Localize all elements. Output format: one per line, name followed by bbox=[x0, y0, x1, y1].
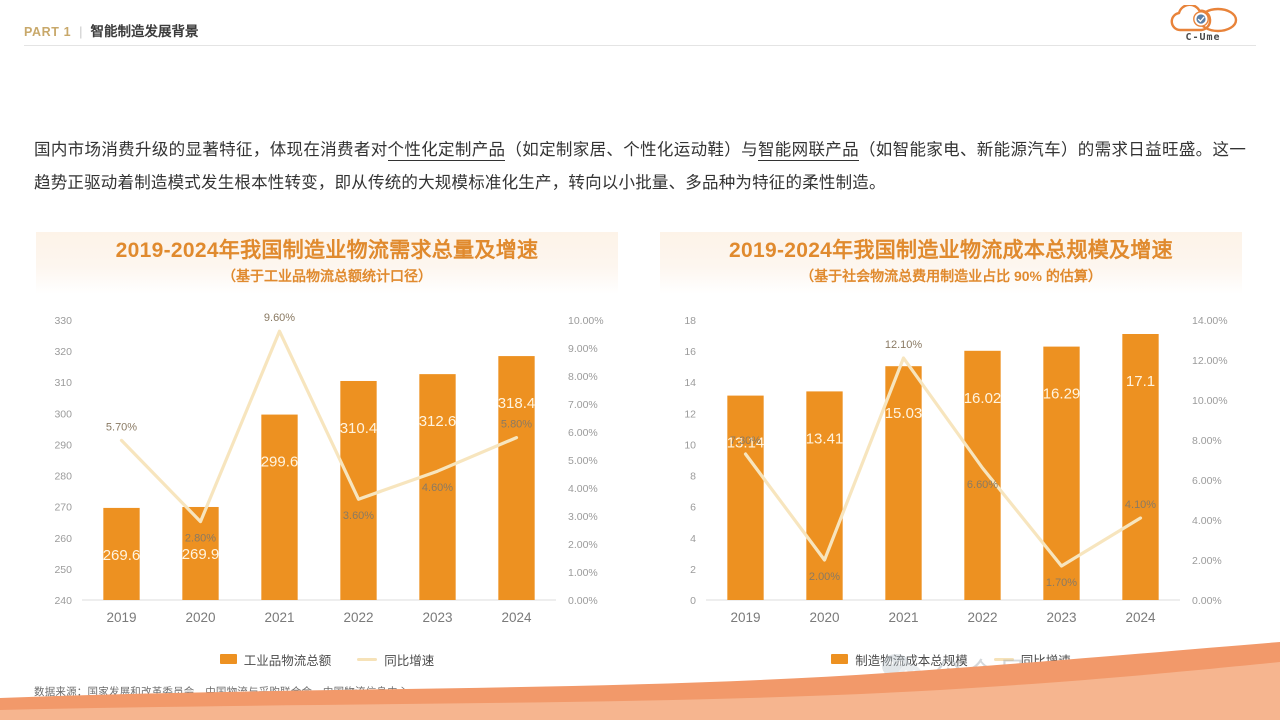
svg-text:2023: 2023 bbox=[1046, 610, 1076, 625]
svg-text:2.00%: 2.00% bbox=[568, 539, 598, 551]
source-note: 数据来源：国家发展和改革委员会、中国物流与采购联合会、中国物流信息中心 bbox=[34, 684, 409, 699]
header-divider bbox=[24, 45, 1256, 46]
svg-text:17.1: 17.1 bbox=[1126, 373, 1155, 390]
svg-text:5.80%: 5.80% bbox=[501, 419, 532, 431]
svg-text:14.00%: 14.00% bbox=[1192, 315, 1228, 327]
paragraph-segment-1: 国内市场消费升级的显著特征，体现在消费者对 bbox=[34, 141, 388, 159]
svg-text:4.00%: 4.00% bbox=[1192, 515, 1222, 527]
svg-text:240: 240 bbox=[54, 595, 72, 607]
svg-text:15.03: 15.03 bbox=[885, 405, 923, 422]
svg-text:2022: 2022 bbox=[343, 610, 373, 625]
legend-swatch-icon bbox=[831, 654, 848, 664]
chart-panel-demand: 2019-2024年我国制造业物流需求总量及增速 （基于工业品物流总额统计口径）… bbox=[36, 232, 618, 672]
svg-text:12: 12 bbox=[684, 408, 696, 420]
legend-line-icon bbox=[994, 658, 1014, 661]
svg-text:4.10%: 4.10% bbox=[1125, 499, 1156, 511]
svg-text:2019: 2019 bbox=[730, 610, 760, 625]
page-title: 智能制造发展背景 bbox=[91, 20, 199, 40]
svg-text:2020: 2020 bbox=[185, 610, 215, 625]
svg-text:2.80%: 2.80% bbox=[185, 533, 216, 545]
chart-svg: 2402502602702802903003103203300.00%1.00%… bbox=[36, 310, 618, 640]
svg-text:12.00%: 12.00% bbox=[1192, 355, 1228, 367]
svg-text:3.00%: 3.00% bbox=[568, 511, 598, 523]
svg-text:12.10%: 12.10% bbox=[885, 339, 923, 351]
svg-text:4: 4 bbox=[690, 533, 696, 545]
svg-text:312.6: 312.6 bbox=[419, 413, 457, 430]
breadcrumb-divider: | bbox=[79, 24, 82, 39]
paragraph-emphasis-2: 智能网联产品 bbox=[758, 141, 859, 161]
svg-text:320: 320 bbox=[54, 346, 72, 358]
svg-text:2: 2 bbox=[690, 564, 696, 576]
svg-text:16.02: 16.02 bbox=[964, 390, 1002, 407]
legend-line-icon bbox=[357, 658, 377, 661]
svg-text:10: 10 bbox=[684, 439, 696, 451]
svg-text:2024: 2024 bbox=[501, 610, 532, 625]
svg-text:13.41: 13.41 bbox=[806, 430, 844, 447]
page-header: PART 1 | 智能制造发展背景 C-Ume bbox=[0, 0, 1280, 48]
svg-text:2021: 2021 bbox=[264, 610, 294, 625]
svg-text:16: 16 bbox=[684, 346, 696, 358]
svg-text:1.70%: 1.70% bbox=[1046, 577, 1077, 589]
svg-text:310.4: 310.4 bbox=[340, 420, 378, 437]
svg-text:14: 14 bbox=[684, 377, 696, 389]
svg-text:18: 18 bbox=[684, 315, 696, 327]
legend-item-line[interactable]: 同比增速 bbox=[357, 650, 434, 669]
svg-text:299.6: 299.6 bbox=[261, 454, 299, 471]
chart-svg: 0246810121416180.00%2.00%4.00%6.00%8.00%… bbox=[660, 310, 1242, 640]
svg-text:318.4: 318.4 bbox=[498, 395, 536, 412]
svg-text:1.00%: 1.00% bbox=[568, 567, 598, 579]
svg-text:16.29: 16.29 bbox=[1043, 386, 1081, 403]
body-paragraph: 国内市场消费升级的显著特征，体现在消费者对个性化定制产品（如定制家居、个性化运动… bbox=[34, 134, 1246, 200]
legend-label-bar: 工业品物流总额 bbox=[244, 650, 332, 669]
legend-label-line: 同比增速 bbox=[384, 650, 434, 669]
chart-panel-cost: 2019-2024年我国制造业物流成本总规模及增速 （基于社会物流总费用制造业占… bbox=[660, 232, 1242, 672]
svg-text:10.00%: 10.00% bbox=[568, 315, 604, 327]
svg-text:8: 8 bbox=[690, 471, 696, 483]
part-label: PART 1 bbox=[24, 25, 71, 39]
svg-text:310: 310 bbox=[54, 377, 72, 389]
legend-label-bar: 制造物流成本总规模 bbox=[855, 650, 968, 669]
legend-item-bar[interactable]: 工业品物流总额 bbox=[220, 650, 332, 669]
paragraph-emphasis-1: 个性化定制产品 bbox=[388, 141, 506, 161]
svg-text:6.00%: 6.00% bbox=[568, 427, 598, 439]
legend-item-line[interactable]: 同比增速 bbox=[994, 650, 1071, 669]
svg-text:6: 6 bbox=[690, 502, 696, 514]
svg-text:9.60%: 9.60% bbox=[264, 312, 295, 324]
svg-text:269.9: 269.9 bbox=[182, 546, 220, 563]
chart-title-block: 2019-2024年我国制造业物流成本总规模及增速 （基于社会物流总费用制造业占… bbox=[660, 232, 1242, 294]
svg-text:0.00%: 0.00% bbox=[1192, 595, 1222, 607]
svg-text:4.00%: 4.00% bbox=[568, 483, 598, 495]
svg-text:269.6: 269.6 bbox=[103, 547, 141, 564]
svg-text:300: 300 bbox=[54, 408, 72, 420]
svg-text:270: 270 bbox=[54, 502, 72, 514]
svg-text:2020: 2020 bbox=[809, 610, 839, 625]
svg-text:4.60%: 4.60% bbox=[422, 482, 453, 494]
chart-title: 2019-2024年我国制造业物流需求总量及增速 bbox=[36, 236, 618, 265]
svg-text:2019: 2019 bbox=[106, 610, 136, 625]
svg-text:2022: 2022 bbox=[967, 610, 997, 625]
svg-text:6.60%: 6.60% bbox=[967, 479, 998, 491]
svg-text:280: 280 bbox=[54, 471, 72, 483]
svg-text:2024: 2024 bbox=[1125, 610, 1156, 625]
svg-text:5.00%: 5.00% bbox=[568, 455, 598, 467]
cloud-logo-icon bbox=[1160, 5, 1246, 33]
svg-text:0.00%: 0.00% bbox=[568, 595, 598, 607]
chart-subtitle: （基于工业品物流总额统计口径） bbox=[36, 265, 618, 287]
chart-title-block: 2019-2024年我国制造业物流需求总量及增速 （基于工业品物流总额统计口径） bbox=[36, 232, 618, 294]
svg-text:8.00%: 8.00% bbox=[1192, 435, 1222, 447]
svg-text:7.30%: 7.30% bbox=[730, 435, 761, 447]
svg-text:250: 250 bbox=[54, 564, 72, 576]
svg-text:3.60%: 3.60% bbox=[343, 510, 374, 522]
svg-text:5.70%: 5.70% bbox=[106, 421, 137, 433]
svg-text:6.00%: 6.00% bbox=[1192, 475, 1222, 487]
svg-text:290: 290 bbox=[54, 439, 72, 451]
svg-text:8.00%: 8.00% bbox=[568, 371, 598, 383]
chart-legend: 制造物流成本总规模 同比增速 bbox=[660, 646, 1242, 672]
svg-text:9.00%: 9.00% bbox=[568, 343, 598, 355]
paragraph-segment-2: （如定制家居、个性化运动鞋）与 bbox=[505, 141, 758, 159]
svg-text:330: 330 bbox=[54, 315, 72, 327]
svg-text:7.00%: 7.00% bbox=[568, 399, 598, 411]
logo-wordmark: C-Ume bbox=[1160, 32, 1246, 43]
chart-plot-area: 0246810121416180.00%2.00%4.00%6.00%8.00%… bbox=[660, 310, 1242, 640]
legend-swatch-icon bbox=[220, 654, 237, 664]
svg-text:2023: 2023 bbox=[422, 610, 452, 625]
svg-text:2021: 2021 bbox=[888, 610, 918, 625]
svg-text:10.00%: 10.00% bbox=[1192, 395, 1228, 407]
svg-text:2.00%: 2.00% bbox=[809, 571, 840, 583]
breadcrumb: PART 1 | 智能制造发展背景 bbox=[24, 20, 199, 40]
chart-subtitle: （基于社会物流总费用制造业占比 90% 的估算） bbox=[660, 265, 1242, 287]
svg-text:0: 0 bbox=[690, 595, 696, 607]
chart-title: 2019-2024年我国制造业物流成本总规模及增速 bbox=[660, 236, 1242, 265]
chart-legend: 工业品物流总额 同比增速 bbox=[36, 646, 618, 672]
legend-label-line: 同比增速 bbox=[1021, 650, 1071, 669]
svg-text:2.00%: 2.00% bbox=[1192, 555, 1222, 567]
brand-logo: C-Ume bbox=[1160, 5, 1246, 45]
legend-item-bar[interactable]: 制造物流成本总规模 bbox=[831, 650, 968, 669]
svg-text:260: 260 bbox=[54, 533, 72, 545]
chart-plot-area: 2402502602702802903003103203300.00%1.00%… bbox=[36, 310, 618, 640]
